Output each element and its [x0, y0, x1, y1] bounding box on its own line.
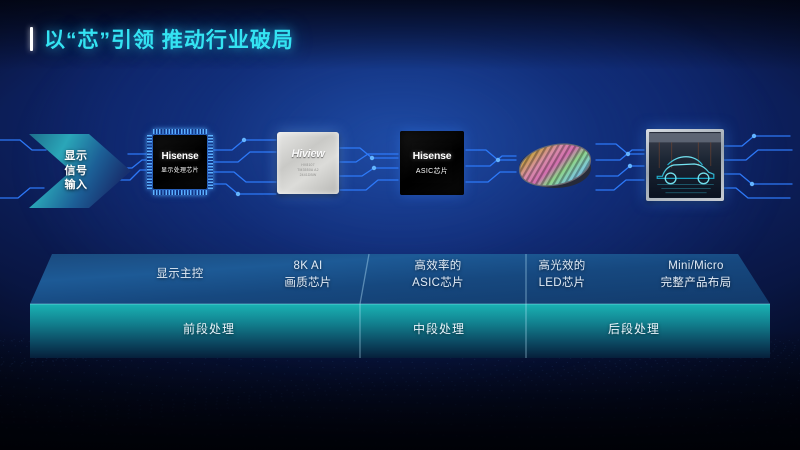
display-signal-input-label: 显示 信号 输入	[45, 140, 107, 202]
chip-pins-right	[208, 135, 213, 189]
chip-brand-label: Hisense	[413, 150, 452, 162]
input-line-2: 信号	[65, 164, 88, 179]
category-0-line-1: 显示主控	[120, 266, 240, 283]
display-panel[interactable]	[646, 129, 724, 201]
category-label-4: Mini/Micro 完整产品布局	[628, 258, 764, 291]
category-2-line-1: 高效率的	[378, 258, 498, 275]
category-1-line-1: 8K AI	[248, 258, 368, 275]
category-label-0: 显示主控	[120, 266, 240, 283]
silicon-wafer-icon[interactable]	[518, 142, 592, 190]
chip-asic[interactable]: Hisense ASIC芯片	[400, 131, 464, 195]
chip-part-code: HV8107 TM3550A A2 2441DBW	[297, 163, 318, 178]
chip-brand-label: Hiview	[291, 148, 324, 160]
title-text: 以“芯”引领 推动行业破局	[44, 24, 294, 54]
chip-body: Hisense 显示处理芯片	[153, 135, 207, 189]
chip-pins-left	[147, 135, 152, 189]
panel-screen	[649, 132, 721, 198]
stage-label-group: 前段处理 中段处理 后段处理	[0, 306, 800, 356]
chip-subtitle-label: ASIC芯片	[416, 166, 448, 176]
category-label-1: 8K AI 画质芯片	[248, 258, 368, 291]
input-line-3: 输入	[65, 178, 88, 193]
chip-display-processing[interactable]: Hisense 显示处理芯片	[147, 129, 213, 195]
category-3-line-1: 高光效的	[502, 258, 622, 275]
chip-code-line-3: 2441DBW	[297, 173, 318, 178]
title-accent-bar	[30, 27, 33, 51]
category-label-3: 高光效的 LED芯片	[502, 258, 622, 291]
input-line-1: 显示	[65, 149, 88, 164]
stage-label-middle: 中段处理	[364, 320, 514, 337]
category-label-2: 高效率的 ASIC芯片	[378, 258, 498, 291]
chip-brand-label: Hisense	[162, 151, 199, 162]
chip-subtitle-label: 显示处理芯片	[161, 165, 199, 174]
category-1-line-2: 画质芯片	[248, 275, 368, 292]
category-label-group: 显示主控 8K AI 画质芯片 高效率的 ASIC芯片 高光效的 LED芯片 M…	[0, 258, 800, 306]
category-4-line-1: Mini/Micro	[628, 258, 764, 275]
presentation-slide: 以“芯”引领 推动行业破局	[0, 0, 800, 450]
wireframe-car-image	[649, 132, 721, 198]
slide-title: 以“芯”引领 推动行业破局	[30, 24, 294, 54]
chip-hiview-8k-ai[interactable]: Hiview HV8107 TM3550A A2 2441DBW	[277, 132, 339, 194]
stage-label-back: 后段处理	[514, 320, 754, 337]
category-2-line-2: ASIC芯片	[378, 275, 498, 292]
chip-pins-top	[153, 129, 207, 134]
category-3-line-2: LED芯片	[502, 275, 622, 292]
chip-pins-bottom	[153, 190, 207, 195]
stage-label-front: 前段处理	[54, 320, 364, 337]
category-4-line-2: 完整产品布局	[628, 275, 764, 292]
